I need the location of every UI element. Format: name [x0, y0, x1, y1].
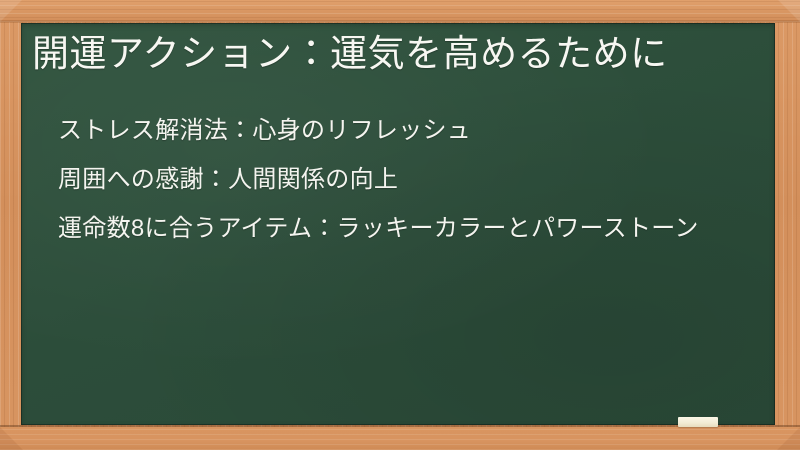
frame-corner-top-right	[778, 0, 800, 22]
list-item: 周囲への感謝：人間関係の向上	[58, 155, 746, 204]
list-item: ストレス解消法：心身のリフレッシュ	[58, 106, 746, 155]
frame-top-rail	[0, 0, 800, 22]
chalkboard-surface: 開運アクション：運気を高めるために ストレス解消法：心身のリフレッシュ 周囲への…	[21, 23, 775, 425]
slide-bullet-list: ストレス解消法：心身のリフレッシュ 周囲への感謝：人間関係の向上 運命数8に合う…	[58, 106, 746, 253]
list-item: 運命数8に合うアイテム：ラッキーカラーとパワーストーン	[58, 204, 746, 253]
frame-corner-top-left	[0, 0, 22, 22]
chalkboard-content: 開運アクション：運気を高めるために ストレス解消法：心身のリフレッシュ 周囲への…	[21, 23, 775, 425]
frame-corner-bottom-right	[777, 427, 800, 450]
chalk-stick-icon[interactable]	[678, 417, 718, 427]
slide-title: 開運アクション：運気を高めるために	[32, 31, 762, 77]
chalk-ledge	[0, 427, 800, 450]
frame-corner-bottom-left	[0, 427, 23, 450]
chalkboard-slide: 開運アクション：運気を高めるために ストレス解消法：心身のリフレッシュ 周囲への…	[0, 0, 800, 450]
